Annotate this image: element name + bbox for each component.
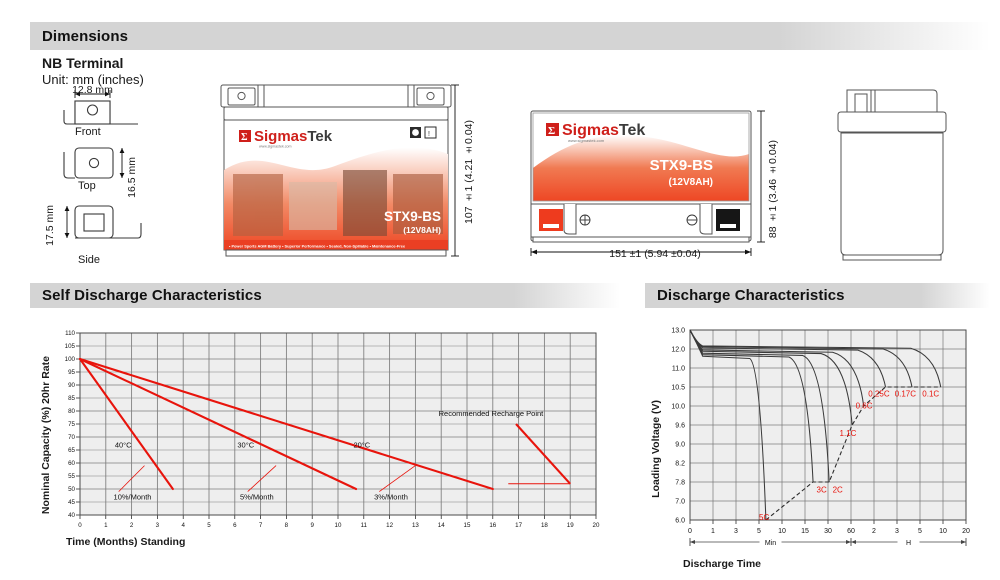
datasheet-page: Dimensions NB Terminal Unit: mm (inches) [0, 0, 1000, 580]
discharge-ylabel: Loading Voltage (V) [650, 400, 662, 498]
svg-text:19: 19 [567, 522, 574, 529]
svg-text:1.1C: 1.1C [840, 429, 857, 438]
svg-text:13: 13 [412, 522, 419, 529]
discharge-chart: 13.012.011.010.510.09.69.08.27.87.06.001… [648, 322, 993, 562]
manual-icon: ! [425, 127, 436, 138]
svg-text:30: 30 [824, 528, 832, 535]
svg-text:10%/Month: 10%/Month [114, 492, 152, 501]
section-header-discharge: Discharge Characteristics [645, 283, 990, 308]
svg-text:4: 4 [181, 522, 185, 529]
svg-text:45: 45 [68, 499, 75, 506]
svg-text:3: 3 [734, 528, 738, 535]
svg-text:6.0: 6.0 [675, 518, 685, 525]
svg-text:65: 65 [68, 447, 75, 454]
svg-text:18: 18 [541, 522, 548, 529]
side-dim-label: 17.5 mm [44, 205, 56, 246]
svg-text:9: 9 [310, 522, 314, 529]
svg-text:Min: Min [765, 540, 776, 547]
svg-text:10: 10 [335, 522, 342, 529]
svg-text:7.0: 7.0 [675, 499, 685, 506]
self-discharge-ylabel: Nominal Capacity (%) 20hr Rate [40, 356, 52, 514]
front-dimension-text: 12.8 mm [42, 84, 143, 96]
battery-profile-view [833, 84, 953, 264]
battery-label-height-dimension: 88 ±1 (3.46 ±0.04) [767, 140, 779, 238]
svg-text:0.17C: 0.17C [895, 390, 917, 399]
battery-front-view: • Power Sports AGM Battery • Superior Pe… [215, 82, 460, 267]
svg-text:0.6C: 0.6C [856, 401, 873, 410]
nb-terminal-block: NB Terminal Unit: mm (inches) [42, 55, 144, 87]
section-title-discharge: Discharge Characteristics [645, 287, 845, 304]
svg-text:10.5: 10.5 [671, 385, 685, 392]
svg-text:9.0: 9.0 [675, 442, 685, 449]
battery-model-front: STX9-BS [384, 209, 441, 224]
svg-text:16: 16 [489, 522, 496, 529]
svg-text:0.1C: 0.1C [922, 390, 939, 399]
front-view-text: Front [75, 126, 101, 138]
svg-text:40: 40 [68, 512, 75, 519]
svg-text:30°C: 30°C [237, 440, 254, 449]
svg-text:2: 2 [872, 528, 876, 535]
battery-capacity-side: (12V8AH) [669, 177, 713, 188]
svg-text:H: H [906, 540, 911, 547]
svg-text:3C: 3C [817, 486, 827, 495]
svg-text:60: 60 [847, 528, 855, 535]
svg-text:1: 1 [711, 528, 715, 535]
svg-text:105: 105 [65, 343, 76, 350]
svg-text:20°C: 20°C [353, 440, 370, 449]
svg-text:15: 15 [464, 522, 471, 529]
battery-capacity-front: (12V8AH) [403, 225, 441, 235]
negative-terminal [716, 209, 740, 231]
svg-text:50: 50 [68, 486, 75, 493]
top-dimension-text: 16.5 mm [126, 157, 138, 198]
side-dimension-text: 17.5 mm [44, 205, 56, 246]
svg-text:5%/Month: 5%/Month [240, 492, 274, 501]
self-discharge-chart: 4045505560657075808590951001051100123456… [36, 325, 606, 555]
svg-text:3: 3 [156, 522, 160, 529]
svg-text:100: 100 [65, 356, 76, 363]
height-dimension-line [451, 85, 459, 256]
svg-text:5C: 5C [759, 513, 769, 522]
svg-text:0.25C: 0.25C [868, 390, 890, 399]
svg-text:3: 3 [895, 528, 899, 535]
svg-text:!: ! [428, 131, 430, 138]
svg-text:5: 5 [207, 522, 211, 529]
top-view-text: Top [78, 180, 96, 192]
svg-text:6: 6 [233, 522, 237, 529]
svg-text:110: 110 [65, 330, 75, 337]
plus-polarity-icon [580, 215, 590, 225]
svg-text:11: 11 [361, 522, 368, 529]
recycle-icon [410, 127, 421, 138]
svg-text:55: 55 [68, 473, 75, 480]
svg-text:11.0: 11.0 [672, 366, 685, 373]
svg-text:9.6: 9.6 [675, 423, 685, 430]
svg-text:14: 14 [438, 522, 445, 529]
section-header-dimensions: Dimensions [30, 22, 990, 50]
positive-terminal [539, 209, 563, 231]
svg-text:0: 0 [78, 522, 82, 529]
front-dim-label: 12.8 mm [42, 84, 202, 96]
svg-text:5: 5 [918, 528, 922, 535]
svg-text:Σ: Σ [241, 132, 248, 143]
svg-text:3%/Month: 3%/Month [374, 492, 408, 501]
discharge-xlabel: Discharge Time [683, 558, 761, 570]
svg-text:www.sigmastek.com: www.sigmastek.com [259, 145, 292, 149]
svg-text:2: 2 [130, 522, 134, 529]
battery-model-side: STX9-BS [650, 157, 713, 174]
svg-text:12.0: 12.0 [671, 347, 685, 354]
svg-text:17: 17 [515, 522, 522, 529]
section-title-dimensions: Dimensions [30, 28, 128, 45]
side-view-label: Side [78, 254, 100, 266]
svg-text:10: 10 [778, 528, 786, 535]
svg-text:12: 12 [386, 522, 393, 529]
svg-text:80: 80 [68, 408, 75, 415]
svg-text:SigmasTek: SigmasTek [562, 122, 645, 139]
battery-width-dimension: 151 ±1 (5.94 ±0.04) [565, 248, 745, 260]
svg-text:85: 85 [68, 395, 75, 402]
svg-text:7: 7 [259, 522, 263, 529]
svg-text:Recommended Recharge Point: Recommended Recharge Point [439, 409, 545, 418]
svg-text:2C: 2C [833, 486, 843, 495]
nb-terminal-title: NB Terminal [42, 55, 144, 71]
side-view-text: Side [78, 254, 100, 266]
battery-height-dimension: 107 ±1 (4.21 ±0.04) [463, 120, 475, 224]
svg-text:10.0: 10.0 [671, 404, 685, 411]
top-view-label: Top [78, 180, 96, 192]
svg-text:8: 8 [285, 522, 289, 529]
svg-text:13.0: 13.0 [671, 328, 685, 335]
label-height-dimension-line [757, 111, 765, 242]
svg-text:40°C: 40°C [115, 440, 132, 449]
svg-text:20: 20 [962, 528, 970, 535]
battery-features-front: • Power Sports AGM Battery • Superior Pe… [229, 243, 406, 248]
svg-text:5: 5 [757, 528, 761, 535]
terminal-diagrams [42, 88, 202, 273]
svg-text:10: 10 [939, 528, 947, 535]
section-header-self-discharge: Self Discharge Characteristics [30, 283, 620, 308]
svg-text:1: 1 [104, 522, 108, 529]
svg-text:0: 0 [688, 528, 692, 535]
svg-text:Σ: Σ [548, 125, 555, 137]
svg-text:90: 90 [68, 382, 75, 389]
top-dim-label: 16.5 mm [126, 157, 138, 198]
svg-text:SigmasTek: SigmasTek [254, 128, 333, 145]
svg-text:60: 60 [68, 460, 75, 467]
svg-text:20: 20 [593, 522, 600, 529]
brand-website-side: www.sigmastek.com [568, 138, 605, 143]
svg-text:15: 15 [801, 528, 809, 535]
section-title-self-discharge: Self Discharge Characteristics [30, 287, 262, 304]
self-discharge-xlabel: Time (Months) Standing [66, 536, 185, 548]
svg-text:7.8: 7.8 [675, 480, 685, 487]
svg-text:70: 70 [68, 434, 75, 441]
svg-text:75: 75 [68, 421, 75, 428]
front-view-label: Front [75, 126, 101, 138]
svg-text:95: 95 [68, 369, 75, 376]
battery-label-view: Σ SigmasTek www.sigmastek.com STX9-BS (1… [528, 108, 778, 258]
svg-text:8.2: 8.2 [675, 461, 685, 468]
